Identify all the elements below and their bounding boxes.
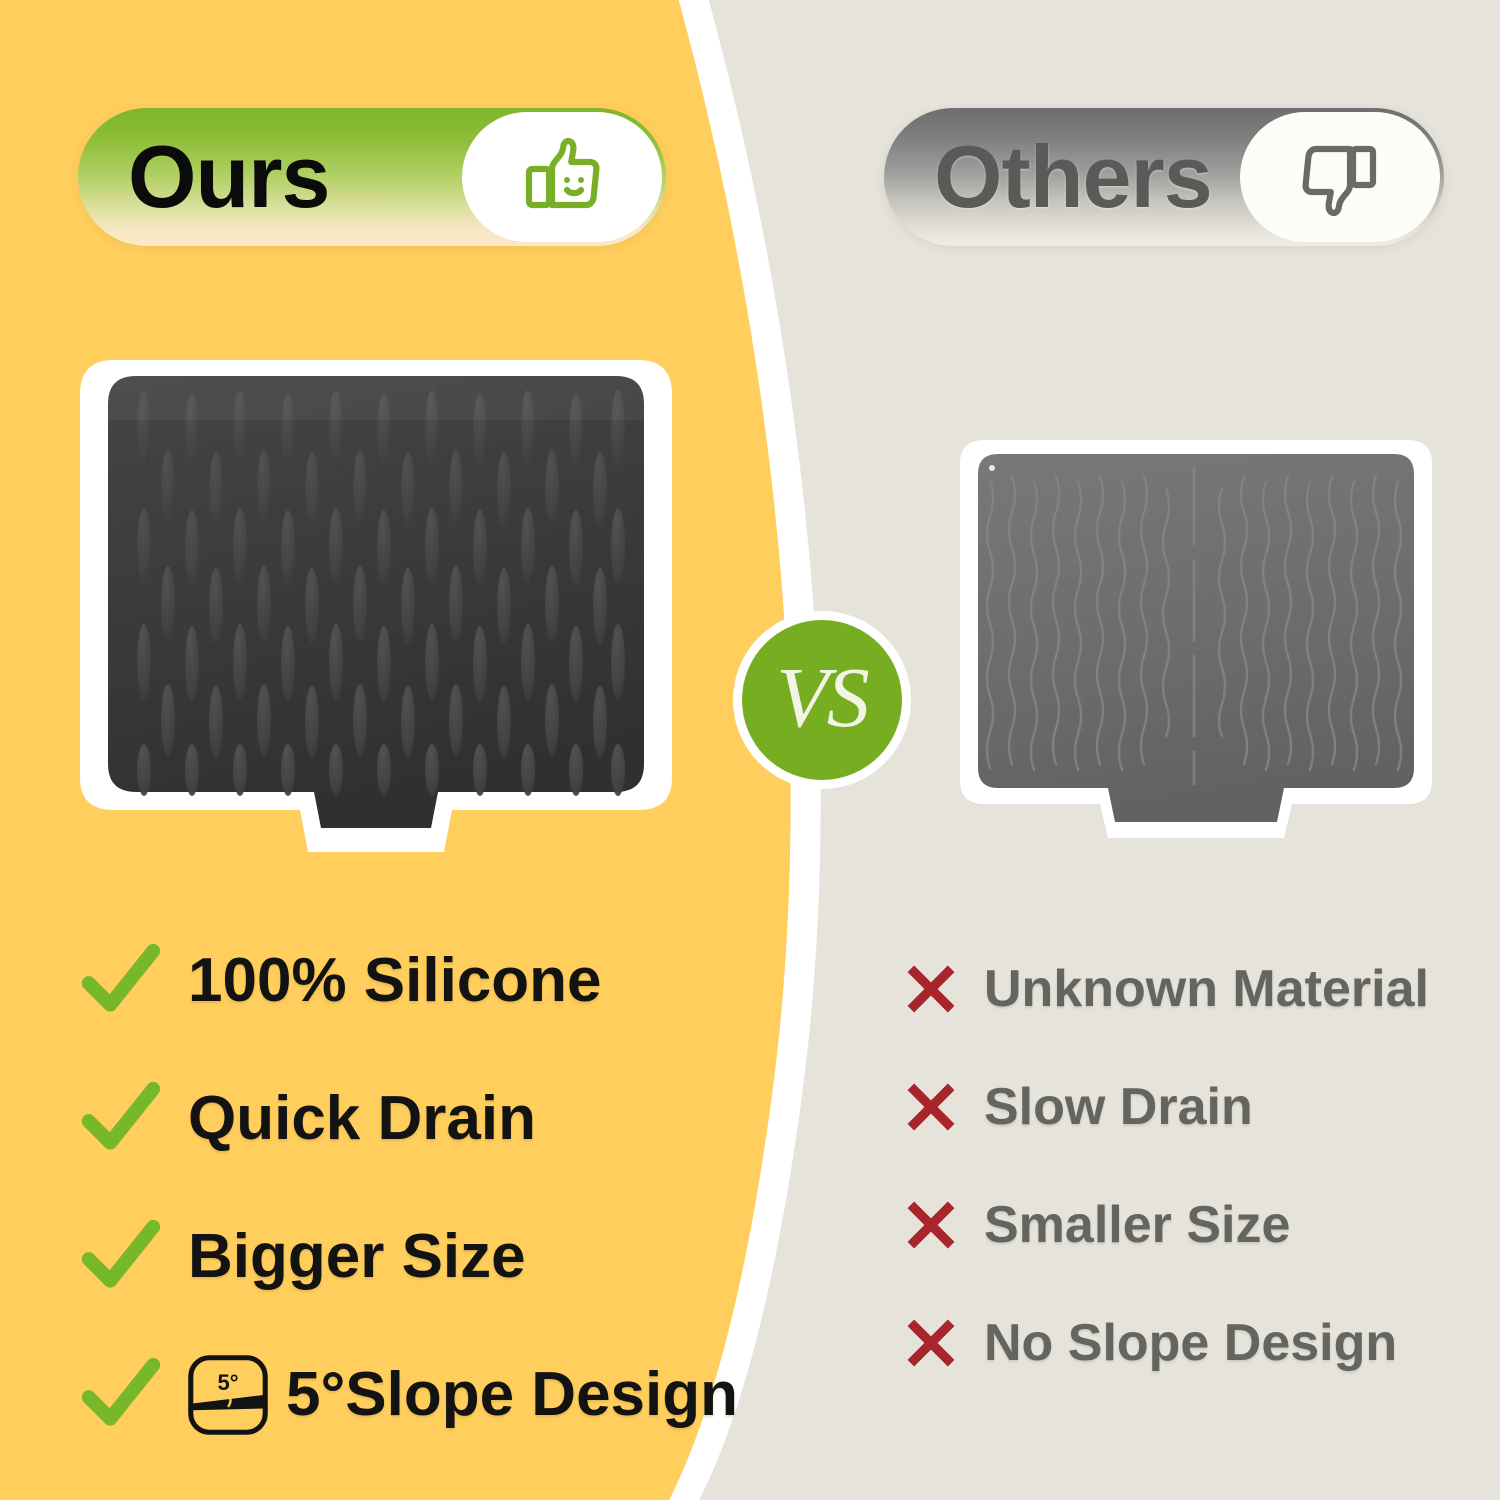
feature-label: 5°Slope Design (286, 1364, 738, 1426)
ours-feature-list: 100% Silicone Quick Drain Bigger Size (78, 912, 738, 1464)
others-cargo-mat (946, 432, 1446, 852)
vs-badge: VS (733, 611, 911, 789)
feature-label: 100% Silicone (188, 950, 602, 1012)
comparison-infographic: Ours Others (0, 0, 1500, 1500)
feature-label: Quick Drain (188, 1088, 536, 1150)
cross-icon (900, 958, 962, 1020)
others-mat-body (978, 454, 1414, 822)
cross-icon (900, 1076, 962, 1138)
feature-label: No Slope Design (984, 1317, 1397, 1369)
vs-circle: VS (742, 620, 902, 780)
slope-angle-value: 5° (217, 1370, 238, 1395)
list-item: Slow Drain (900, 1048, 1480, 1166)
list-item: Smaller Size (900, 1166, 1480, 1284)
slope-angle-icon: 5° (184, 1352, 272, 1438)
ours-mat-highlight (108, 376, 644, 420)
list-item: 100% Silicone (78, 912, 738, 1050)
check-icon (78, 1214, 164, 1300)
list-item: No Slope Design (900, 1284, 1480, 1402)
others-product-image (946, 432, 1446, 852)
list-item: Unknown Material (900, 930, 1480, 1048)
feature-label: Smaller Size (984, 1199, 1290, 1251)
cross-icon (900, 1194, 962, 1256)
thumbs-up-icon (514, 129, 610, 225)
ours-product-image (52, 340, 700, 870)
ours-badge: Ours (78, 108, 666, 246)
thumbs-down-badge-pill (1240, 112, 1440, 242)
list-item: Quick Drain (78, 1050, 738, 1188)
list-item: 5° 5°Slope Design (78, 1326, 738, 1464)
thumbs-up-badge-pill (462, 112, 662, 242)
feature-label: Bigger Size (188, 1226, 526, 1288)
feature-label: Slow Drain (984, 1081, 1253, 1133)
vs-label: VS (776, 647, 868, 747)
thumbs-down-icon (1292, 129, 1388, 225)
others-badge-label: Others (934, 133, 1212, 221)
check-icon (78, 1076, 164, 1162)
others-feature-list: Unknown Material Slow Drain Smaller Size (900, 930, 1480, 1402)
ours-cargo-mat (52, 340, 700, 870)
check-icon (78, 938, 164, 1024)
check-icon (78, 1352, 164, 1438)
feature-label: Unknown Material (984, 963, 1429, 1015)
others-mat-corner-dot (989, 465, 995, 471)
list-item: Bigger Size (78, 1188, 738, 1326)
others-badge: Others (884, 108, 1444, 246)
cross-icon (900, 1312, 962, 1374)
ours-badge-label: Ours (128, 133, 329, 221)
